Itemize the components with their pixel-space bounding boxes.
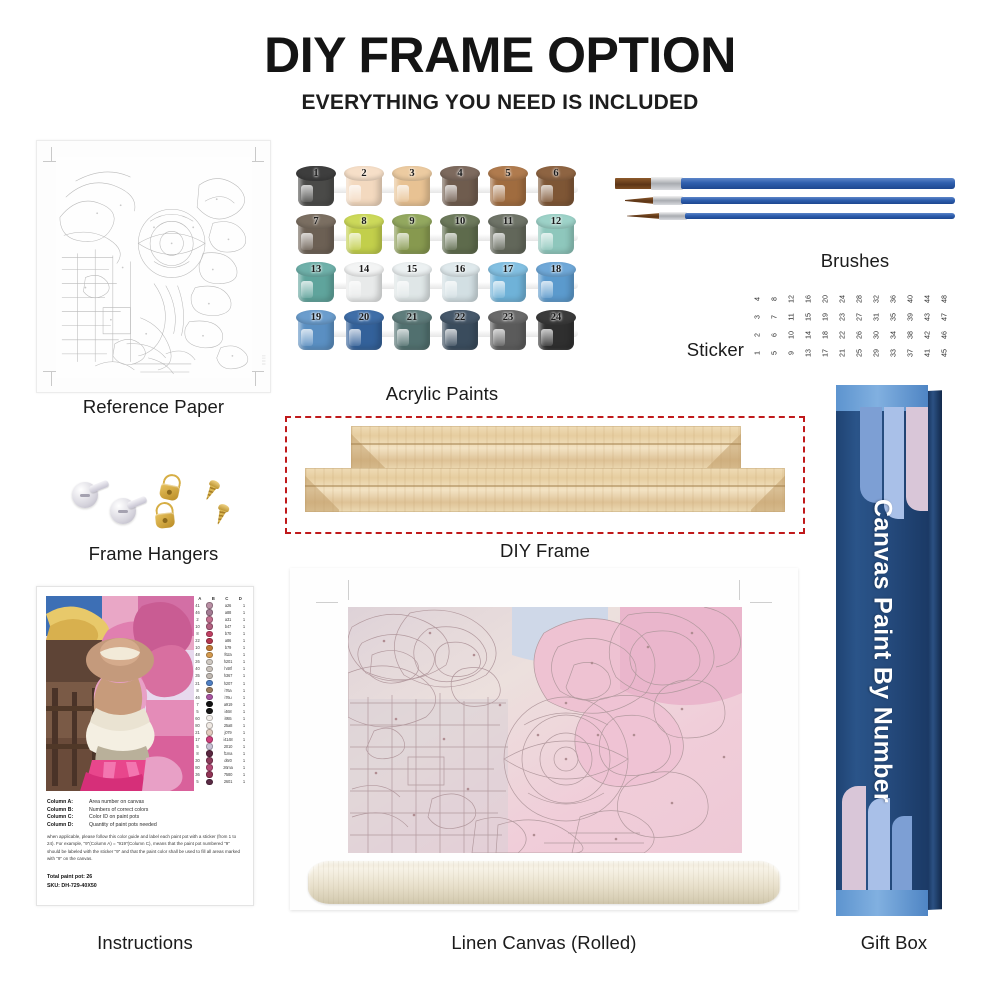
paint-pot-highlight <box>493 185 505 202</box>
legend-row: 3675801 <box>192 771 248 778</box>
canvas-rolled-edge <box>308 861 780 904</box>
sticker-number: 24 <box>833 291 851 308</box>
sticker-number: 41 <box>918 345 936 362</box>
paint-pot-highlight <box>541 329 553 346</box>
paint-pot: 18 <box>536 262 576 304</box>
legend-area-count: 80 <box>192 765 203 770</box>
paint-pot: 21 <box>392 310 432 352</box>
sku-label: SKU: DH-729-40X50 <box>47 882 243 891</box>
sticker-number: 25 <box>850 345 868 362</box>
instructions-column-key: Column A:Area number on canvasColumn B:N… <box>47 799 245 829</box>
legend-area-count: 2 <box>192 617 203 622</box>
paint-pot-highlight <box>301 281 313 298</box>
legend-color-id: d6r0 <box>216 758 240 763</box>
caption-gift-box: Gift Box <box>836 932 952 954</box>
instructions-column-text: Quantity of paint pots needed <box>89 822 157 830</box>
legend-area-count: 5 <box>192 779 203 784</box>
brush-round-medium <box>625 197 955 204</box>
sticker-number: 13 <box>799 345 817 362</box>
paint-pot-row: 123456 <box>296 166 588 210</box>
caption-sticker: Sticker <box>652 339 744 361</box>
legend-area-count: 7 <box>192 702 203 707</box>
legend-quantity: 1 <box>240 737 248 742</box>
instructions-sheet-image: A B C D 41a26146a8812a31110b4718b70122a8… <box>36 586 254 906</box>
instructions-column-text: Color ID on paint pots <box>89 814 139 822</box>
instructions-column-row: Column A:Area number on canvas <box>47 799 245 807</box>
paint-pot-highlight <box>541 281 553 298</box>
paint-pot-highlight <box>397 185 409 202</box>
legend-row: 46a881 <box>192 609 248 616</box>
legend-row: 40h48f1 <box>192 665 248 672</box>
legend-quantity: 1 <box>240 652 248 657</box>
paint-pot-number: 12 <box>536 215 576 229</box>
paint-pot-highlight <box>445 329 457 346</box>
paint-pot-number: 9 <box>392 215 432 229</box>
legend-row: 46i76u1 <box>192 694 248 701</box>
legend-row: 35h3671 <box>192 672 248 679</box>
legend-area-count: 10 <box>192 624 203 629</box>
caption-brushes: Brushes <box>760 250 950 272</box>
legend-color-swatch <box>203 694 216 700</box>
legend-color-swatch <box>203 623 216 629</box>
legend-color-id: j079 <box>216 730 240 735</box>
legend-color-id: h48f <box>216 666 240 671</box>
sticker-number: 4 <box>748 291 766 308</box>
caption-frame-hangers: Frame Hangers <box>36 543 271 565</box>
legend-area-count: 46 <box>192 695 203 700</box>
sticker-number: 36 <box>884 291 902 308</box>
legend-color-id: a88 <box>216 610 240 615</box>
instructions-column-row: Column D:Quantity of paint pots needed <box>47 822 245 830</box>
instructions-column-row: Column C:Color ID on paint pots <box>47 814 245 822</box>
instructions-column-text: Numbers of correct colors <box>89 807 148 815</box>
sticker-number: 22 <box>833 327 851 344</box>
sticker-number: 23 <box>833 309 851 326</box>
wall-hook-icon <box>72 482 98 508</box>
sticker-number: 42 <box>918 327 936 344</box>
sticker-number: 46 <box>935 327 953 344</box>
legend-quantity: 1 <box>240 681 248 686</box>
paint-pot-highlight <box>349 233 361 250</box>
legend-color-id: f62a <box>216 652 240 657</box>
instructions-body-text: when applicable, please follow this colo… <box>47 833 243 863</box>
paint-pot-highlight <box>301 329 313 346</box>
legend-area-count: 35 <box>192 673 203 678</box>
paint-pot: 15 <box>392 262 432 304</box>
legend-quantity: 1 <box>240 702 248 707</box>
paint-pot-highlight <box>349 185 361 202</box>
sticker-number: 14 <box>799 327 817 344</box>
paint-pot: 20 <box>344 310 384 352</box>
acrylic-paints-image: 123456789101112131415161718192021222324 <box>296 166 588 356</box>
legend-color-swatch <box>203 673 216 679</box>
screw-icon <box>215 503 229 525</box>
caption-acrylic-paints: Acrylic Paints <box>296 383 588 405</box>
paint-pot: 10 <box>440 214 480 256</box>
caption-instructions: Instructions <box>36 932 254 954</box>
legend-area-count: 36 <box>192 772 203 777</box>
legend-color-swatch <box>203 757 216 763</box>
paint-pot-number: 21 <box>392 311 432 325</box>
paint-pot-highlight <box>349 281 361 298</box>
legend-row: 30d6r01 <box>192 757 248 764</box>
sticker-number: 16 <box>799 291 817 308</box>
paint-pot: 3 <box>392 166 432 208</box>
legend-color-swatch <box>203 736 216 742</box>
paint-pot-number: 18 <box>536 263 576 277</box>
legend-color-id: h201 <box>216 659 240 664</box>
legend-quantity: 1 <box>240 603 248 608</box>
instructions-footer: Total paint pot: 26 SKU: DH-729-40X50 <box>47 873 243 891</box>
legend-quantity: 1 <box>240 744 248 749</box>
paint-pot-number: 13 <box>296 263 336 277</box>
legend-color-id: h207 <box>216 681 240 686</box>
wall-hook-icon <box>110 498 136 524</box>
legend-color-id: i4148 <box>216 737 240 742</box>
paint-pot: 2 <box>344 166 384 208</box>
legend-quantity: 1 <box>240 645 248 650</box>
paint-pot-number: 16 <box>440 263 480 277</box>
sticker-number: 21 <box>833 345 851 362</box>
paint-pot-highlight <box>445 233 457 250</box>
paint-pot: 14 <box>344 262 384 304</box>
legend-row: 60i9551 <box>192 715 248 722</box>
legend-color-swatch <box>203 743 216 749</box>
legend-row: 26h2011 <box>192 658 248 665</box>
paint-pot: 5 <box>488 166 528 208</box>
legend-row: 8b701 <box>192 630 248 637</box>
paint-pot: 24 <box>536 310 576 352</box>
legend-area-count: 8 <box>192 631 203 636</box>
legend-quantity: 1 <box>240 772 248 777</box>
paint-pot-number: 8 <box>344 215 384 229</box>
sticker-number: 5 <box>765 345 783 362</box>
sticker-number: 40 <box>901 291 919 308</box>
paint-pot: 17 <box>488 262 528 304</box>
paint-pot-row: 789101112 <box>296 214 588 258</box>
paint-pot-number: 1 <box>296 167 336 181</box>
sticker-number: 29 <box>867 345 885 362</box>
legend-area-count: 10 <box>192 645 203 650</box>
legend-color-swatch <box>203 687 216 693</box>
sticker-number: 8 <box>765 291 783 308</box>
paint-pot: 4 <box>440 166 480 208</box>
paint-pot: 6 <box>536 166 576 208</box>
legend-color-id: 2010 <box>216 744 240 749</box>
legend-quantity: 1 <box>240 716 248 721</box>
brushes-image <box>615 170 955 240</box>
reference-line-art <box>56 157 252 378</box>
legend-color-swatch <box>203 764 216 770</box>
legend-area-count: 41 <box>192 603 203 608</box>
paint-pot-number: 2 <box>344 167 384 181</box>
paint-pot-highlight <box>349 329 361 346</box>
legend-quantity: 1 <box>240 723 248 728</box>
gift-box-front-panel: Canvas Paint By Number <box>836 385 928 916</box>
paint-pot-row: 131415161718 <box>296 262 588 306</box>
caption-linen-canvas: Linen Canvas (Rolled) <box>290 932 798 954</box>
legend-quantity: 1 <box>240 779 248 784</box>
legend-row: 41a261 <box>192 602 248 609</box>
legend-color-swatch <box>203 722 216 728</box>
paint-pot: 1 <box>296 166 336 208</box>
sticker-number: 47 <box>935 309 953 326</box>
sticker-number: 11 <box>782 309 800 326</box>
legend-color-id: i76a <box>216 688 240 693</box>
paint-pot-number: 7 <box>296 215 336 229</box>
legend-row: 17i41481 <box>192 736 248 743</box>
legend-quantity: 1 <box>240 666 248 671</box>
legend-color-id: a26 <box>216 603 240 608</box>
instructions-column-label: Column D: <box>47 822 89 830</box>
sticker-number: 17 <box>816 345 834 362</box>
paint-pot-number: 10 <box>440 215 480 229</box>
instructions-preview-art <box>46 596 194 791</box>
legend-header-a: A <box>193 596 207 601</box>
paint-pot-highlight <box>445 281 457 298</box>
legend-color-swatch <box>203 645 216 651</box>
paint-pot-highlight <box>541 233 553 250</box>
paint-pot-number: 6 <box>536 167 576 181</box>
legend-color-swatch <box>203 771 216 777</box>
legend-row: 8f1ma1 <box>192 750 248 757</box>
paint-pot-number: 11 <box>488 215 528 229</box>
sticker-number-grid: 4812162024283236404448371115192327313539… <box>748 290 952 362</box>
paint-pot-number: 3 <box>392 167 432 181</box>
legend-color-swatch <box>203 779 216 785</box>
legend-color-id: a919 <box>216 702 240 707</box>
paint-pot-number: 4 <box>440 167 480 181</box>
paint-pot-number: 24 <box>536 311 576 325</box>
paint-pot-number: 5 <box>488 167 528 181</box>
sticker-number: 12 <box>782 291 800 308</box>
paint-pot-number: 14 <box>344 263 384 277</box>
paint-pot: 23 <box>488 310 528 352</box>
brush-flat <box>615 178 955 189</box>
legend-row: 10b471 <box>192 623 248 630</box>
legend-area-count: 40 <box>192 666 203 671</box>
sticker-number: 35 <box>884 309 902 326</box>
legend-area-count: 8 <box>192 688 203 693</box>
gift-box-side-panel <box>927 390 942 910</box>
legend-quantity: 1 <box>240 624 248 629</box>
legend-color-swatch <box>203 659 216 665</box>
legend-area-count: 46 <box>192 610 203 615</box>
paint-pot-highlight <box>301 233 313 250</box>
paint-pot: 7 <box>296 214 336 256</box>
total-paint-pot-label: Total paint pot: 26 <box>47 873 243 882</box>
legend-header-b: B <box>207 596 221 601</box>
legend-area-count: 80 <box>192 723 203 728</box>
legend-color-swatch <box>203 602 216 608</box>
paint-pot: 22 <box>440 310 480 352</box>
frame-hangers-image <box>72 472 242 534</box>
paint-pot-row: 192021222324 <box>296 310 588 354</box>
legend-area-count: 21 <box>192 730 203 735</box>
legend-color-id: 26ma <box>216 765 240 770</box>
sticker-number: 33 <box>884 345 902 362</box>
sticker-number: 30 <box>867 327 885 344</box>
legend-row: 8i76a1 <box>192 687 248 694</box>
sticker-number: 39 <box>901 309 919 326</box>
legend-color-swatch <box>203 609 216 615</box>
legend-row: 8026ma1 <box>192 764 248 771</box>
legend-area-count: 48 <box>192 652 203 657</box>
legend-row: 5i4681 <box>192 708 248 715</box>
legend-color-swatch <box>203 701 216 707</box>
paint-pot-highlight <box>541 185 553 202</box>
legend-color-id: h367 <box>216 673 240 678</box>
legend-quantity: 1 <box>240 730 248 735</box>
paint-pot: 8 <box>344 214 384 256</box>
legend-color-id: 25a8 <box>216 723 240 728</box>
legend-color-swatch <box>203 715 216 721</box>
paint-pot-number: 23 <box>488 311 528 325</box>
legend-area-count: 60 <box>192 716 203 721</box>
legend-quantity: 1 <box>240 709 248 714</box>
canvas-line-art <box>348 607 742 853</box>
paint-pot-number: 15 <box>392 263 432 277</box>
screw-icon <box>203 480 219 502</box>
sticker-number: 18 <box>816 327 834 344</box>
sticker-number: 26 <box>850 327 868 344</box>
paint-pot: 9 <box>392 214 432 256</box>
legend-row: 21j0791 <box>192 729 248 736</box>
legend-area-count: 21 <box>192 681 203 686</box>
legend-color-swatch <box>203 680 216 686</box>
sticker-number: 15 <box>799 309 817 326</box>
legend-row: 526011 <box>192 778 248 785</box>
instructions-column-label: Column B: <box>47 807 89 815</box>
reference-watermark: ||||||| <box>262 355 267 366</box>
legend-color-swatch <box>203 729 216 735</box>
legend-area-count: 8 <box>192 751 203 756</box>
reference-paper-image: ||||||| <box>36 140 271 393</box>
paint-pot: 16 <box>440 262 480 304</box>
legend-row: 520101 <box>192 743 248 750</box>
paint-pot-highlight <box>397 281 409 298</box>
legend-quantity: 1 <box>240 638 248 643</box>
legend-color-swatch <box>203 666 216 672</box>
legend-color-swatch <box>203 616 216 622</box>
sticker-number: 6 <box>765 327 783 344</box>
sticker-number: 7 <box>765 309 783 326</box>
product-infographic: DIY FRAME OPTION EVERYTHING YOU NEED IS … <box>0 0 1000 1000</box>
legend-row: 48f62a1 <box>192 651 248 658</box>
legend-area-count: 30 <box>192 758 203 763</box>
legend-quantity: 1 <box>240 688 248 693</box>
legend-quantity: 1 <box>240 758 248 763</box>
legend-quantity: 1 <box>240 631 248 636</box>
legend-quantity: 1 <box>240 765 248 770</box>
legend-color-id: i76u <box>216 695 240 700</box>
legend-quantity: 1 <box>240 695 248 700</box>
legend-color-id: 7580 <box>216 772 240 777</box>
legend-color-id: i468 <box>216 709 240 714</box>
legend-color-id: b79 <box>216 645 240 650</box>
legend-row: 22a861 <box>192 637 248 644</box>
sticker-number: 37 <box>901 345 919 362</box>
instructions-column-label: Column A: <box>47 799 89 807</box>
legend-color-swatch <box>203 652 216 658</box>
page-title: DIY FRAME OPTION <box>0 26 1000 84</box>
legend-row: 10b791 <box>192 644 248 651</box>
legend-color-id: b70 <box>216 631 240 636</box>
stretcher-bar <box>351 426 741 470</box>
sticker-number: 19 <box>816 309 834 326</box>
legend-row: 8025a81 <box>192 722 248 729</box>
paint-pot: 11 <box>488 214 528 256</box>
sticker-number: 48 <box>935 291 953 308</box>
legend-color-id: i955 <box>216 716 240 721</box>
paint-pot: 13 <box>296 262 336 304</box>
sticker-number: 34 <box>884 327 902 344</box>
linen-canvas-image <box>290 568 798 910</box>
d-ring-hanger-icon <box>158 472 185 502</box>
legend-quantity: 1 <box>240 610 248 615</box>
gift-box-bottom-cap <box>836 890 928 916</box>
sticker-number: 20 <box>816 291 834 308</box>
paint-pot-highlight <box>397 233 409 250</box>
paint-pot-highlight <box>397 329 409 346</box>
paint-pot-highlight <box>493 281 505 298</box>
sticker-number: 1 <box>748 345 766 362</box>
legend-color-swatch <box>203 750 216 756</box>
paint-pot-highlight <box>301 185 313 202</box>
sticker-number: 27 <box>850 309 868 326</box>
sticker-number: 44 <box>918 291 936 308</box>
legend-color-id: f1ma <box>216 751 240 756</box>
sticker-number: 43 <box>918 309 936 326</box>
page-subtitle: EVERYTHING YOU NEED IS INCLUDED <box>0 91 1000 115</box>
legend-color-id: 2601 <box>216 779 240 784</box>
sticker-number: 38 <box>901 327 919 344</box>
legend-area-count: 5 <box>192 709 203 714</box>
paint-pot-highlight <box>493 233 505 250</box>
sticker-number: 28 <box>850 291 868 308</box>
sticker-sheet-image: 4812162024283236404448371115192327313539… <box>748 290 952 362</box>
legend-color-id: a86 <box>216 638 240 643</box>
diy-frame-image <box>285 416 805 534</box>
legend-area-count: 22 <box>192 638 203 643</box>
sticker-number: 9 <box>782 345 800 362</box>
caption-reference-paper: Reference Paper <box>36 396 271 418</box>
paint-pot-number: 19 <box>296 311 336 325</box>
legend-header-d: D <box>234 596 248 601</box>
paint-pot-number: 22 <box>440 311 480 325</box>
d-ring-hanger-icon <box>153 501 178 529</box>
instructions-color-legend: A B C D 41a26146a8812a31110b4718b70122a8… <box>192 596 248 785</box>
instructions-column-row: Column B:Numbers of correct colors <box>47 807 245 815</box>
legend-quantity: 1 <box>240 673 248 678</box>
paint-pot-highlight <box>445 185 457 202</box>
legend-color-id: b47 <box>216 624 240 629</box>
legend-quantity: 1 <box>240 751 248 756</box>
legend-row: 2a311 <box>192 616 248 623</box>
stretcher-bar <box>305 468 785 512</box>
legend-color-id: a31 <box>216 617 240 622</box>
legend-row: 7a9191 <box>192 701 248 708</box>
paint-pot-number: 17 <box>488 263 528 277</box>
instructions-column-label: Column C: <box>47 814 89 822</box>
legend-color-swatch <box>203 708 216 714</box>
instructions-column-text: Area number on canvas <box>89 799 144 807</box>
gift-box-image: Canvas Paint By Number <box>836 385 942 916</box>
legend-area-count: 5 <box>192 744 203 749</box>
legend-color-swatch <box>203 631 216 637</box>
paint-pot: 12 <box>536 214 576 256</box>
legend-area-count: 17 <box>192 737 203 742</box>
